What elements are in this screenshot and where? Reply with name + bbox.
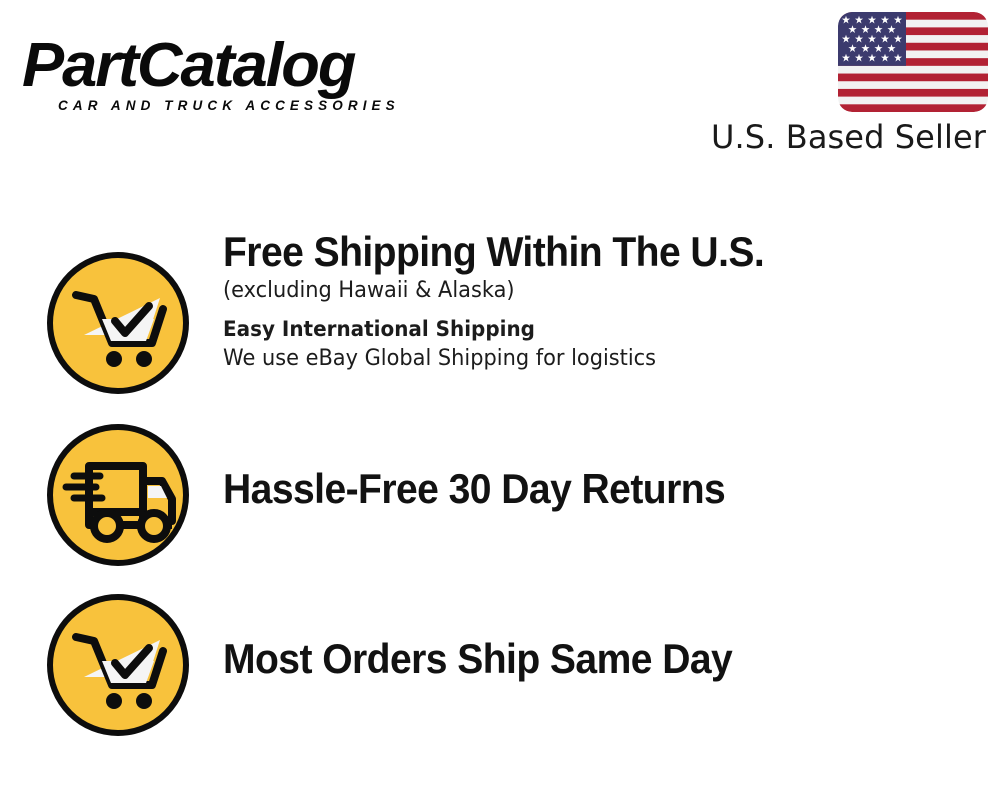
- feature-text-returns: Hassle-Free 30 Day Returns: [223, 465, 983, 513]
- partcatalog-logo: PartCatalog CAR AND TRUCK ACCESSORIES Pa…: [22, 28, 492, 118]
- svg-text:PartCatalog: PartCatalog: [22, 31, 356, 100]
- cart-check-icon: [44, 591, 192, 739]
- us-flag-icon: [838, 12, 988, 112]
- svg-text:CAR AND TRUCK ACCESSORIES: CAR AND TRUCK ACCESSORIES: [58, 98, 400, 113]
- feature-title: Most Orders Ship Same Day: [223, 635, 930, 683]
- cart-check-icon: [44, 249, 192, 397]
- feature-title: Hassle-Free 30 Day Returns: [223, 465, 930, 513]
- us-based-seller-label: U.S. Based Seller: [466, 117, 986, 157]
- delivery-truck-icon: [44, 421, 192, 569]
- feature-subline-international: Easy International Shipping: [223, 314, 945, 344]
- feature-subline-logistics: We use eBay Global Shipping for logistic…: [223, 344, 945, 374]
- feature-text-same-day: Most Orders Ship Same Day: [223, 635, 983, 683]
- spacer: [223, 306, 983, 314]
- feature-text-free-shipping: Free Shipping Within The U.S. (excluding…: [223, 228, 983, 374]
- feature-subline-exclusions: (excluding Hawaii & Alaska): [223, 276, 945, 306]
- logo-wordmark-graphic: PartCatalog CAR AND TRUCK ACCESSORIES: [22, 31, 400, 113]
- shipping-info-banner: PartCatalog CAR AND TRUCK ACCESSORIES Pa…: [0, 0, 1000, 800]
- feature-title: Free Shipping Within The U.S.: [223, 228, 930, 276]
